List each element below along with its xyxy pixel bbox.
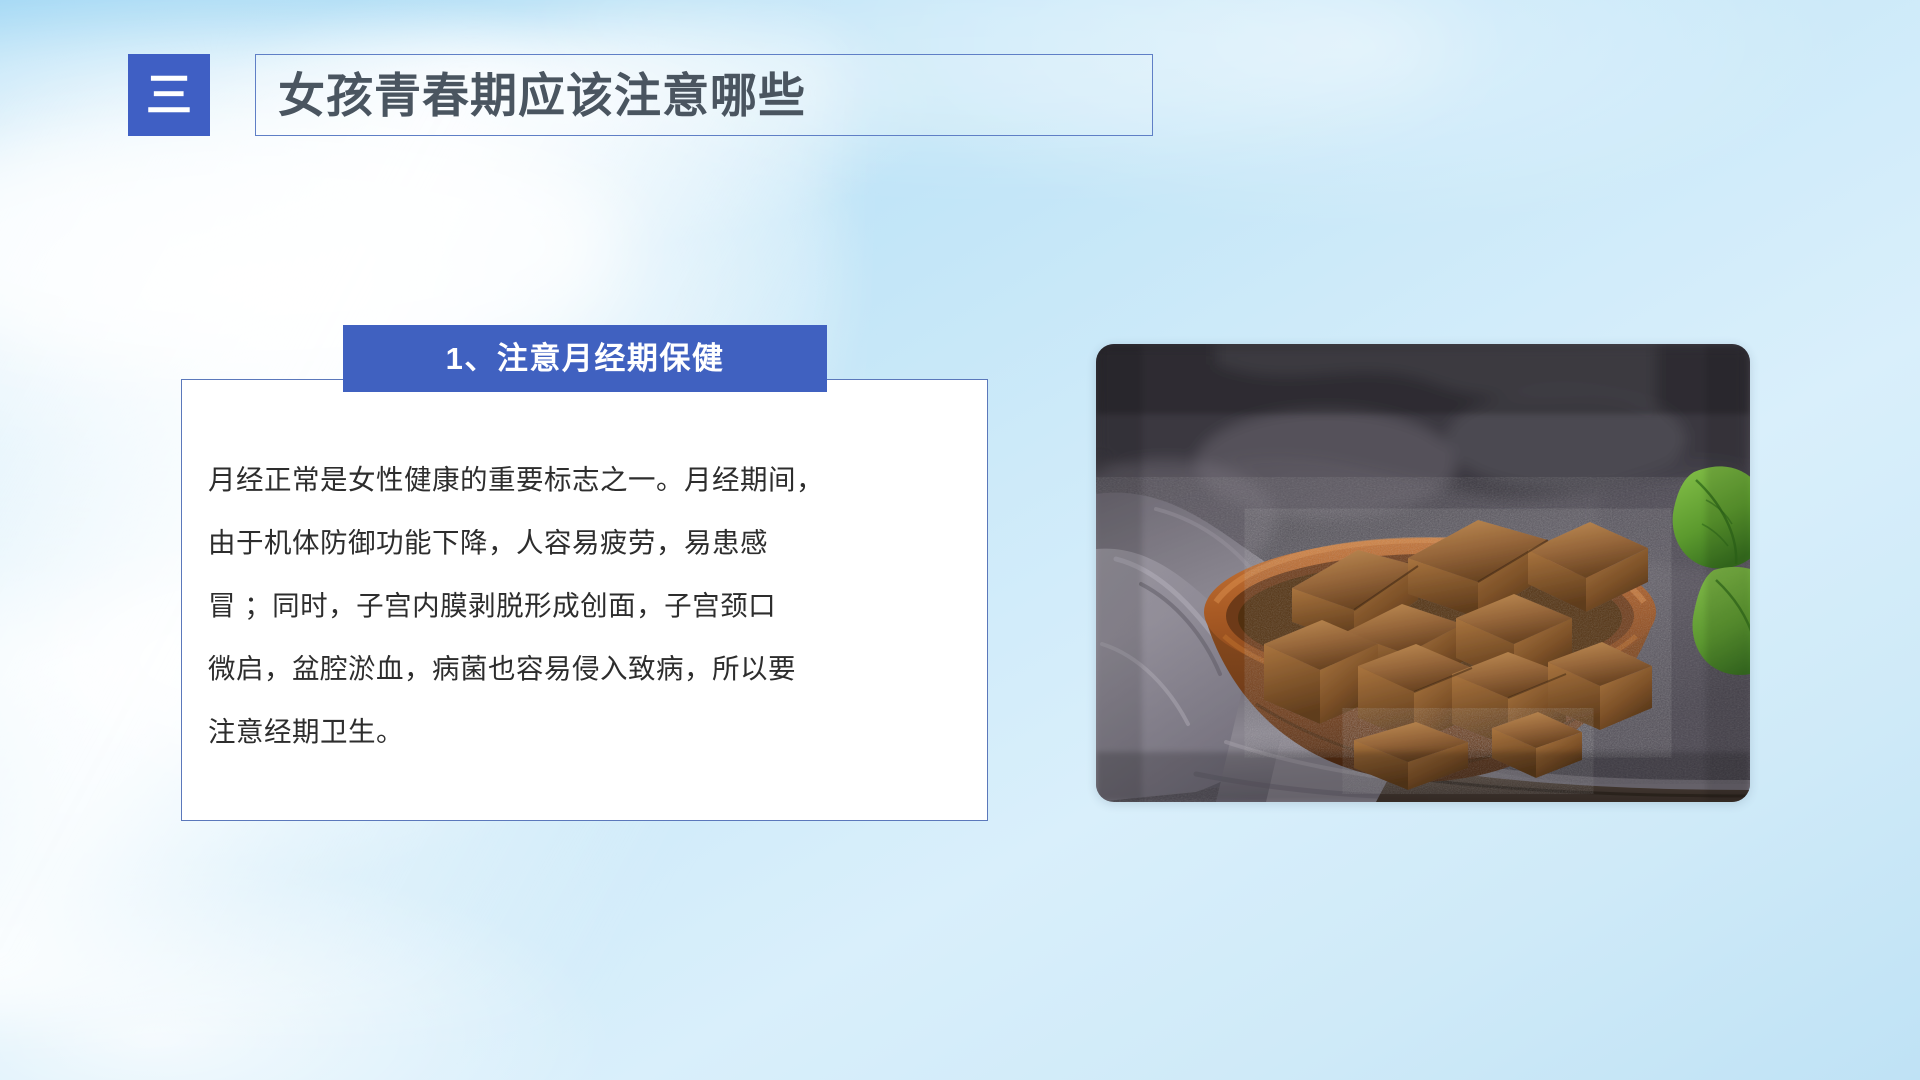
page-title: 女孩青春期应该注意哪些 — [256, 72, 806, 119]
subtitle-label: 1、注意月经期保健 — [446, 343, 725, 374]
slide-header: 三 女孩青春期应该注意哪些 — [128, 54, 1153, 140]
section-number-badge: 三 — [128, 54, 210, 136]
body-line: 微启，盆腔淤血，病菌也容易侵入致病，所以要 — [208, 637, 978, 700]
subtitle-banner: 1、注意月经期保健 — [343, 325, 827, 392]
body-line: 冒 ；同时，子宫内膜剥脱形成创面，子宫颈口 — [208, 574, 978, 637]
slide-canvas: 三 女孩青春期应该注意哪些 月经正常是女性健康的重要标志之一。月经期间， 由于机… — [0, 0, 1920, 1080]
photo-illustration — [1096, 344, 1750, 802]
title-box: 女孩青春期应该注意哪些 — [255, 54, 1153, 136]
brown-sugar-photo — [1096, 344, 1750, 802]
body-line: 月经正常是女性健康的重要标志之一。月经期间， — [208, 448, 978, 511]
body-line: 由于机体防御功能下降，人容易疲劳，易患感 — [208, 511, 978, 574]
body-line: 注意经期卫生。 — [208, 700, 978, 763]
body-paragraph: 月经正常是女性健康的重要标志之一。月经期间， 由于机体防御功能下降，人容易疲劳，… — [208, 448, 978, 763]
